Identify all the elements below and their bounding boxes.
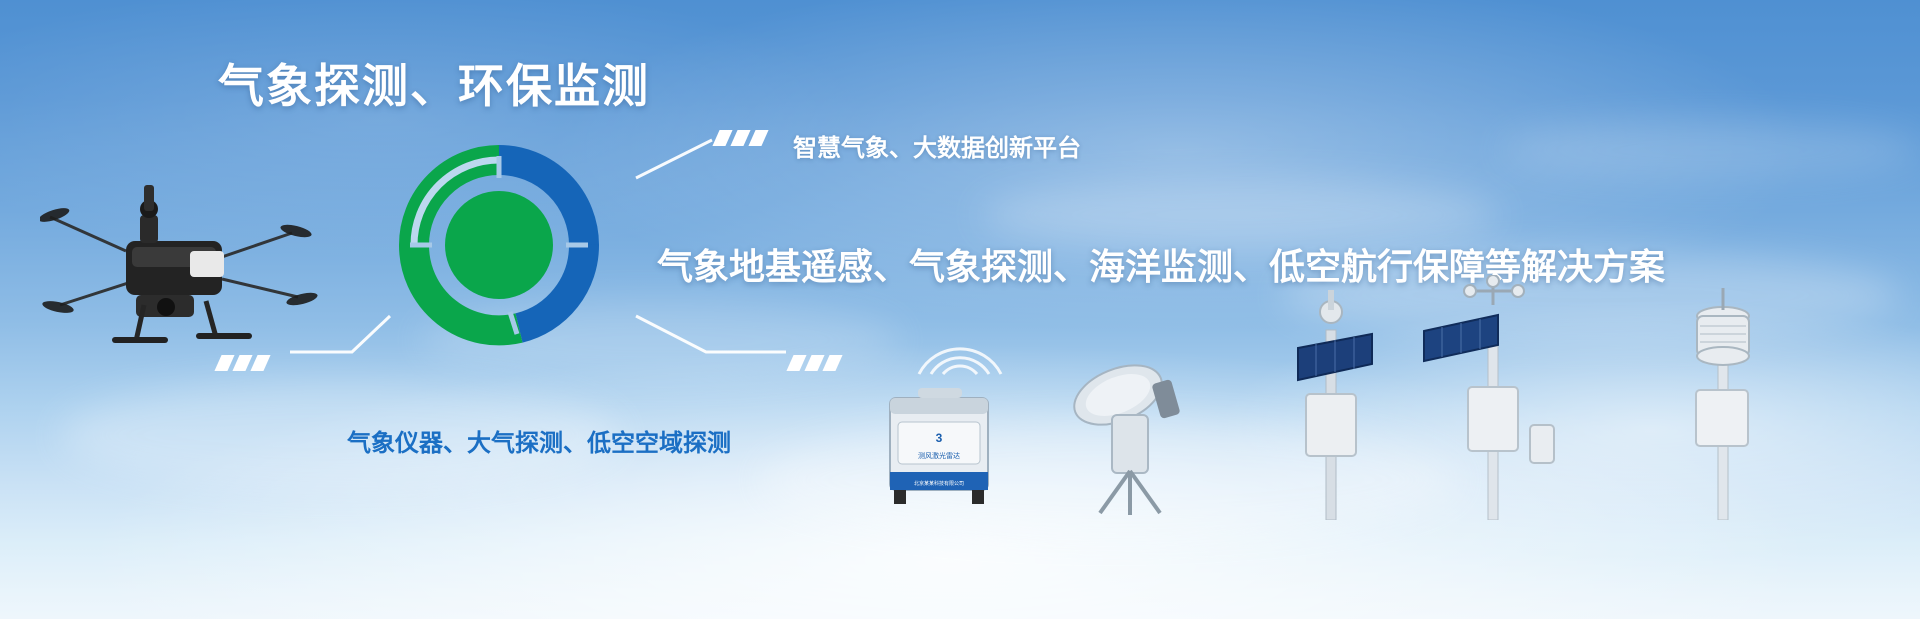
page-title: 气象探测、环保监测 (218, 50, 650, 116)
donut-logo (392, 138, 606, 352)
cloud-wisp (1500, 120, 1920, 180)
automatic-weather-station (1660, 270, 1790, 520)
solar-panel-mast (1410, 275, 1585, 520)
solar-weather-station (1280, 290, 1390, 520)
slash-marks-icon (218, 355, 267, 371)
drone-illustration (40, 155, 320, 350)
svg-text:3: 3 (936, 431, 943, 445)
weather-monitoring-banner: 气象探测、环保监测 智慧气象、大数据创新平台 气象地基遥感、气象探测、海洋监测、… (0, 0, 1920, 619)
lidar-device: 3 测风激光雷达 北京某某科技有限公司 (880, 380, 1000, 510)
callout-platform: 智慧气象、大数据创新平台 (793, 128, 1081, 163)
svg-text:北京某某科技有限公司: 北京某某科技有限公司 (914, 480, 964, 487)
signal-waves-icon (905, 310, 1015, 380)
callout-instruments: 气象仪器、大气探测、低空空域探测 (347, 423, 731, 458)
satellite-dish (1060, 355, 1210, 520)
slash-marks-icon (716, 130, 765, 146)
svg-text:测风激光雷达: 测风激光雷达 (918, 451, 960, 460)
slash-marks-icon (790, 355, 839, 371)
